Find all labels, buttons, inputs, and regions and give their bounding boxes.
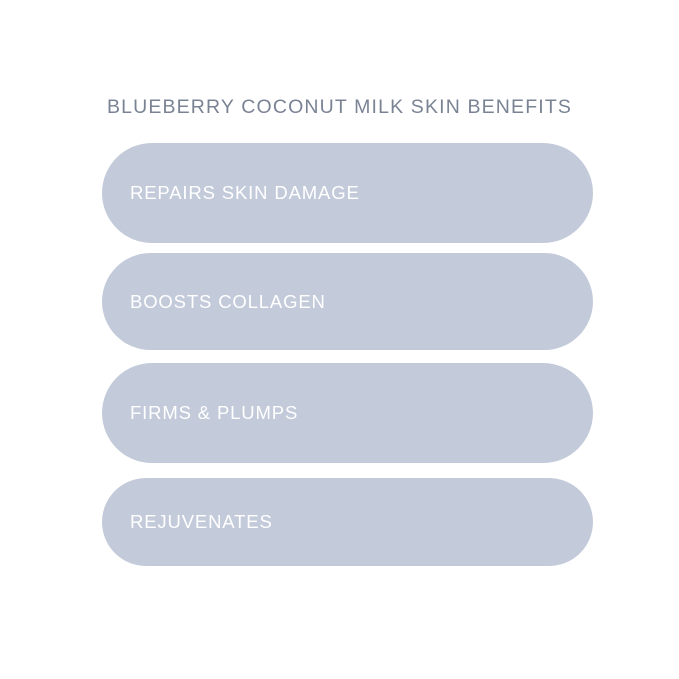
bar-label: REPAIRS SKIN DAMAGE (130, 143, 360, 243)
bar-label: REJUVENATES (130, 478, 273, 566)
page-title: BLUEBERRY COCONUT MILK SKIN BENEFITS (0, 96, 679, 119)
infographic-canvas: BLUEBERRY COCONUT MILK SKIN BENEFITS REP… (0, 0, 679, 679)
bar-label: FIRMS & PLUMPS (130, 363, 298, 463)
bar-label: BOOSTS COLLAGEN (130, 253, 326, 350)
